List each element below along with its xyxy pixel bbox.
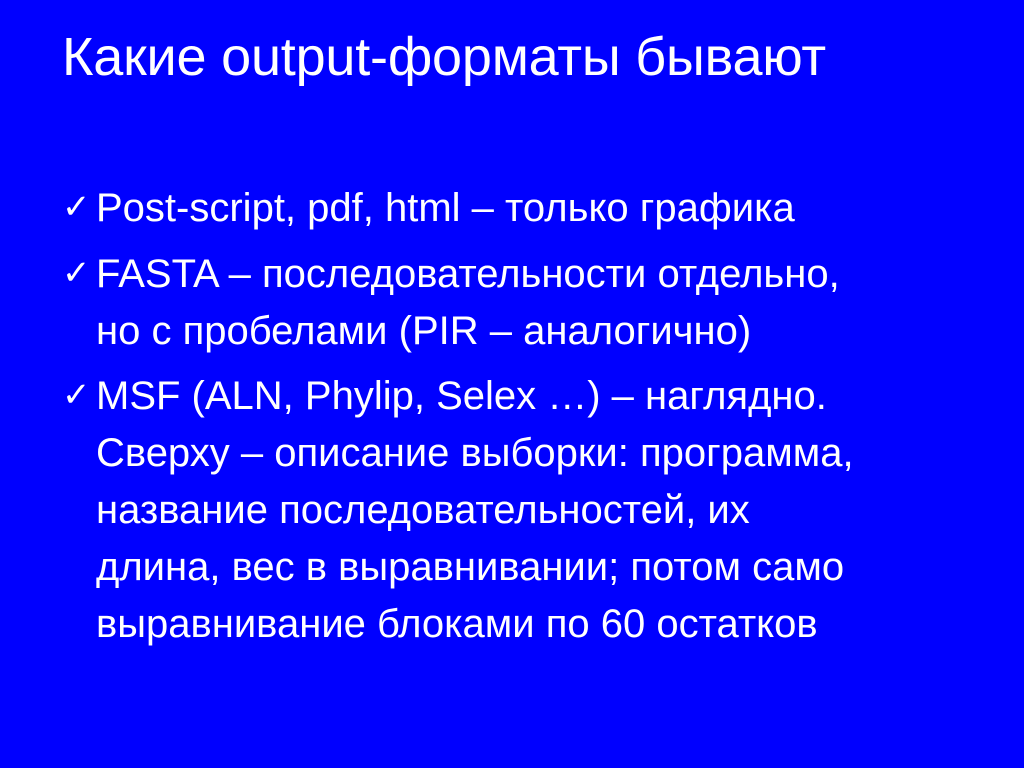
bullet-item: ✓ Post-script, pdf, html – только график… [62,180,982,237]
slide-title: Какие output-форматы бывают [62,27,972,87]
checkmark-icon: ✓ [62,246,96,301]
bullet-text: Post-script, pdf, html – только графика [96,180,982,237]
bullet-item: ✓ MSF (ALN, Phylip, Selex …) – наглядно.… [62,368,982,652]
bullet-text: MSF (ALN, Phylip, Selex …) – наглядно. С… [96,368,982,652]
bullet-item: ✓ FASTA – последовательности отдельно, н… [62,246,982,360]
presentation-slide: Какие output-форматы бывают ✓ Post-scrip… [0,0,1024,768]
checkmark-icon: ✓ [62,368,96,423]
checkmark-icon: ✓ [62,180,96,235]
bullet-text: FASTA – последовательности отдельно, но … [96,246,982,360]
slide-body-content: ✓ Post-script, pdf, html – только график… [62,180,982,657]
